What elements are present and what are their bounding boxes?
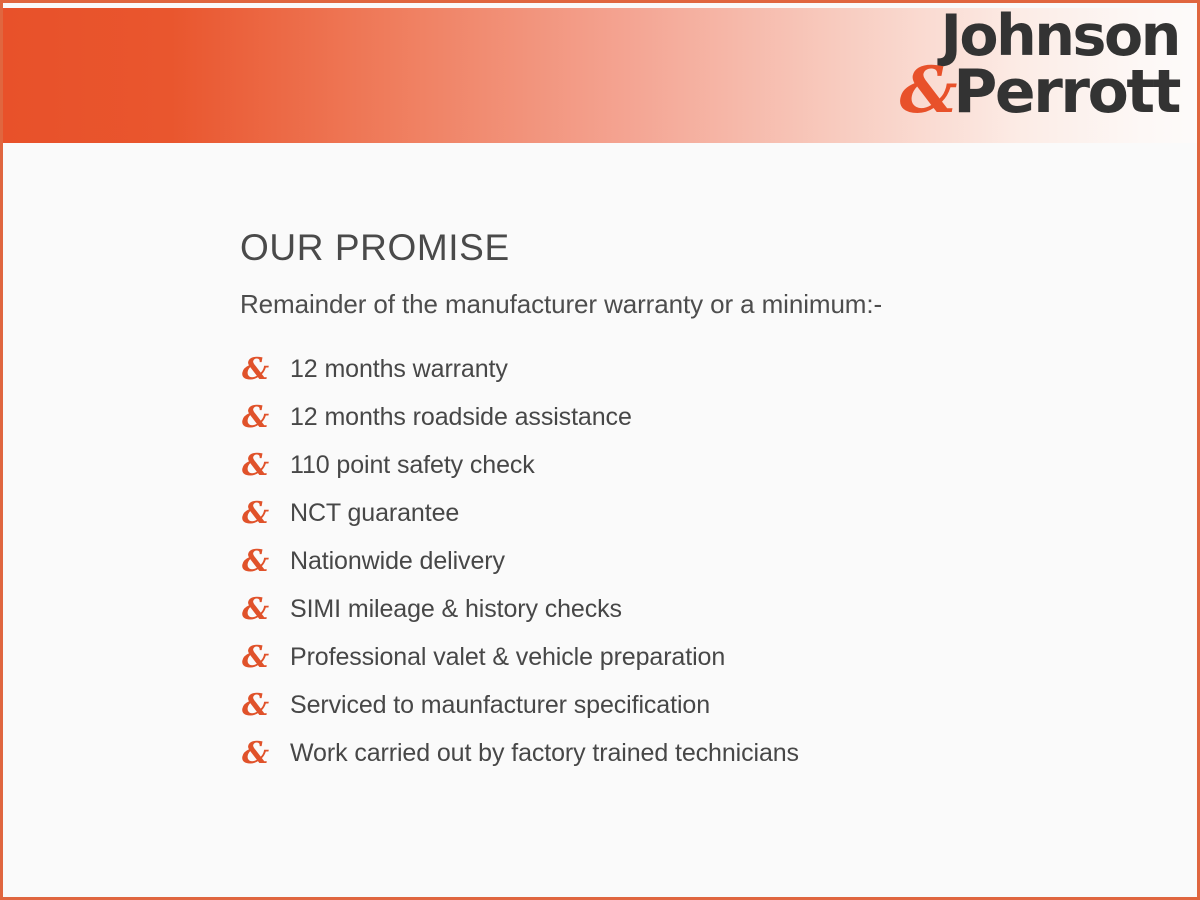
promise-poster: Johnson &Perrott OUR PROMISE Remainder o…: [0, 0, 1200, 900]
ampersand-bullet-icon: &: [240, 451, 290, 481]
page-subtitle: Remainder of the manufacturer warranty o…: [240, 289, 1140, 320]
list-item: & SIMI mileage & history checks: [240, 586, 1140, 634]
list-item-label: NCT guarantee: [290, 499, 459, 528]
page-title: OUR PROMISE: [240, 228, 1140, 269]
list-item: & 110 point safety check: [240, 442, 1140, 490]
list-item-label: Professional valet & vehicle preparation: [290, 643, 725, 672]
ampersand-bullet-icon: &: [240, 403, 290, 433]
list-item: & Nationwide delivery: [240, 538, 1140, 586]
logo-line-perrott: &Perrott: [879, 63, 1179, 119]
list-item: & Professional valet & vehicle preparati…: [240, 634, 1140, 682]
list-item: & 12 months roadside assistance: [240, 394, 1140, 442]
list-item: & NCT guarantee: [240, 490, 1140, 538]
ampersand-bullet-icon: &: [240, 355, 290, 385]
ampersand-bullet-icon: &: [240, 547, 290, 577]
ampersand-bullet-icon: &: [240, 595, 290, 625]
ampersand-bullet-icon: &: [240, 499, 290, 529]
list-item-label: SIMI mileage & history checks: [290, 595, 622, 624]
list-item: & 12 months warranty: [240, 346, 1140, 394]
ampersand-bullet-icon: &: [240, 643, 290, 673]
ampersand-icon: &: [900, 53, 954, 128]
list-item-label: Nationwide delivery: [290, 547, 505, 576]
list-item-label: 12 months roadside assistance: [290, 403, 632, 432]
logo-word-perrott: Perrott: [953, 57, 1179, 127]
list-item: & Work carried out by factory trained te…: [240, 730, 1140, 778]
list-item-label: 110 point safety check: [290, 451, 535, 480]
brand-logo: Johnson &Perrott: [879, 11, 1179, 119]
list-item-label: 12 months warranty: [290, 355, 508, 384]
list-item: & Serviced to maunfacturer specification: [240, 682, 1140, 730]
list-item-label: Work carried out by factory trained tech…: [290, 739, 799, 768]
promise-list: & 12 months warranty & 12 months roadsid…: [240, 346, 1140, 778]
list-item-label: Serviced to maunfacturer specification: [290, 691, 710, 720]
ampersand-bullet-icon: &: [240, 739, 290, 769]
content-area: OUR PROMISE Remainder of the manufacture…: [240, 228, 1140, 778]
ampersand-bullet-icon: &: [240, 691, 290, 721]
